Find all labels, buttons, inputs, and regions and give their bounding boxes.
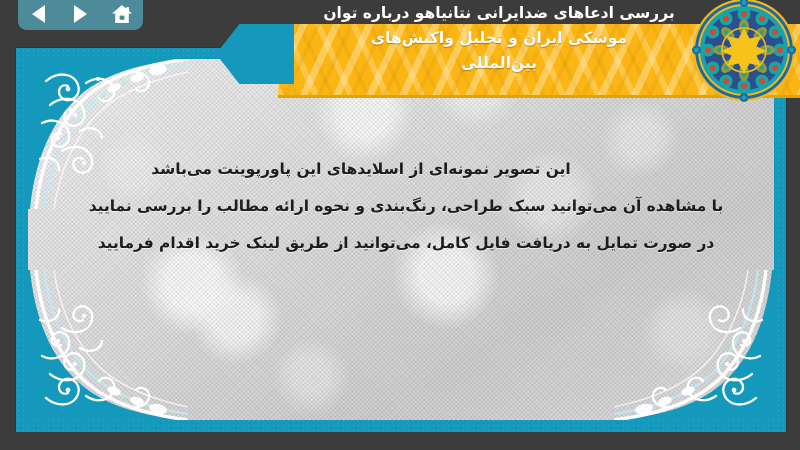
slide-body-line-3: در صورت تمایل به دریافت فایل کامل، می‌تو…: [62, 225, 750, 262]
triangle-right-icon: [74, 5, 87, 23]
slide-body-text: این تصویر نمونه‌ای از اسلایدهای این پاور…: [62, 151, 750, 262]
slide-content-area: این تصویر نمونه‌ای از اسلایدهای این پاور…: [28, 59, 774, 420]
page-title: بررسی ادعاهای ضدایرانی نتانیاهو درباره ت…: [284, 1, 714, 76]
next-slide-button[interactable]: [67, 2, 93, 26]
slide-navigation-bar: [18, 0, 143, 30]
slide-panel: این تصویر نمونه‌ای از اسلایدهای این پاور…: [16, 48, 786, 432]
bottom-dark-strip: [0, 432, 800, 450]
prev-slide-button[interactable]: [26, 2, 52, 26]
slide-body-line-2: با مشاهده آن می‌توانید سبک طراحی، رنگ‌بن…: [62, 188, 750, 225]
slide-viewer: این تصویر نمونه‌ای از اسلایدهای این پاور…: [0, 0, 800, 450]
home-button[interactable]: [109, 2, 135, 26]
persian-medallion-icon: [692, 0, 796, 102]
home-icon: [111, 4, 133, 24]
triangle-left-icon: [32, 5, 45, 23]
slide-body-line-1: این تصویر نمونه‌ای از اسلایدهای این پاور…: [62, 151, 660, 188]
